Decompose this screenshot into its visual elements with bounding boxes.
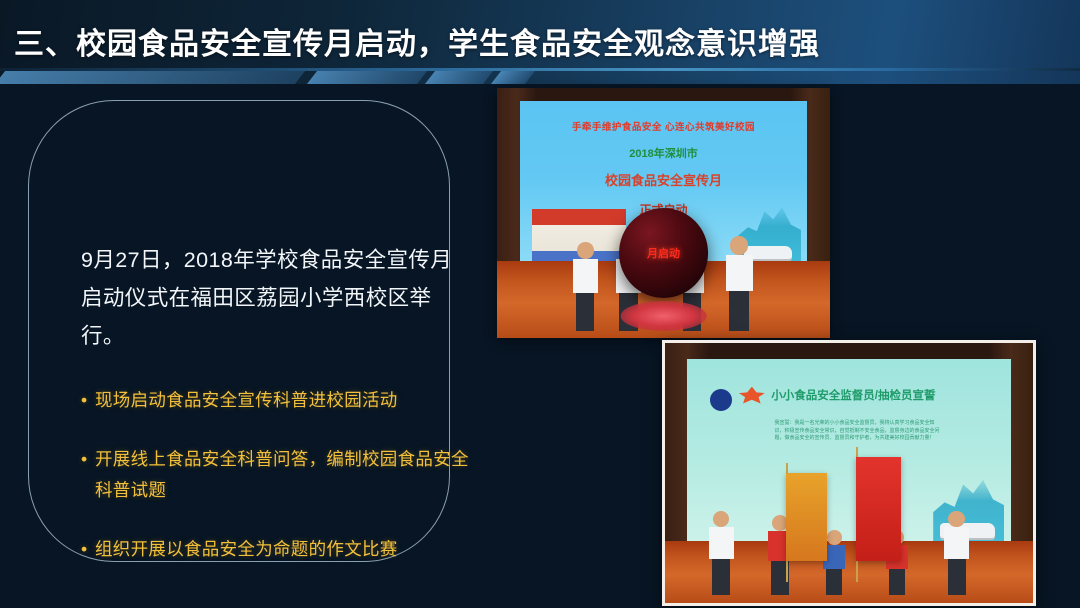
person-figure xyxy=(948,511,965,596)
launch-ceremony-photo: 手牵手维护食品安全 心连心共筑美好校园 2018年深圳市 校园食品安全宣传月 正… xyxy=(497,88,830,338)
bullet-list: • 现场启动食品安全宣传科普进校园活动 • 开展线上食品安全科普问答，编制校园食… xyxy=(81,385,463,565)
lead-paragraph: 9月27日，2018年学校食品安全宣传月启动仪式在福田区荔园小学西校区举行。 xyxy=(81,241,459,355)
person-figure xyxy=(713,511,730,596)
list-item: • 开展线上食品安全科普问答，编制校园食品安全科普试题 xyxy=(81,444,471,506)
bullet-marker-icon: • xyxy=(81,444,87,475)
flower-petals xyxy=(620,301,707,331)
slide-root: 三、校园食品安全宣传月启动，学生食品安全观念意识增强 9月27日，2018年学校… xyxy=(0,0,1080,608)
banner-slogan-line: 手牵手维护食品安全 心连心共筑美好校园 xyxy=(520,119,806,133)
list-item: • 组织开展以食品安全为命题的作文比赛 xyxy=(81,534,471,565)
list-item: • 现场启动食品安全宣传科普进校园活动 xyxy=(81,385,471,416)
list-item-label: 组织开展以食品安全为命题的作文比赛 xyxy=(95,539,398,559)
flag-presentation-photo: 小小食品安全监督员/抽检员宣誓 我宣誓：我是一名光荣的小小食品安全监督员，我将认… xyxy=(662,340,1036,606)
ceremony-launch-ball: 月启动 xyxy=(619,208,709,298)
ceremonial-flag xyxy=(856,457,900,561)
star-logo-icon xyxy=(739,387,765,404)
banner-title: 小小食品安全监督员/抽检员宣誓 xyxy=(771,387,935,403)
banner-theme-line: 校园食品安全宣传月 xyxy=(520,170,806,189)
list-item-label: 现场启动食品安全宣传科普进校园活动 xyxy=(95,390,398,410)
banner-body-text: 我宣誓：我是一名光荣的小小食品安全监督员，我将认真学习食品安全知识，积极宣传食品… xyxy=(775,420,943,443)
person-figure xyxy=(577,242,594,331)
person-figure xyxy=(827,530,842,595)
ceremonial-flag xyxy=(786,473,826,561)
content-panel: 9月27日，2018年学校食品安全宣传月启动仪式在福田区荔园小学西校区举行。 •… xyxy=(28,100,450,562)
list-item-label: 开展线上食品安全科普问答，编制校园食品安全科普试题 xyxy=(95,449,469,500)
banner-year-line: 2018年深圳市 xyxy=(520,145,806,161)
page-title: 三、校园食品安全宣传月启动，学生食品安全观念意识增强 xyxy=(14,19,820,63)
header-slash-decoration xyxy=(0,71,560,84)
bullet-marker-icon: • xyxy=(81,534,87,565)
person-figure xyxy=(730,236,748,330)
ball-led-text: 月启动 xyxy=(647,245,680,261)
emblem-icon xyxy=(710,389,733,412)
bullet-marker-icon: • xyxy=(81,385,87,416)
content-panel-inner: 9月27日，2018年学校食品安全宣传月启动仪式在福田区荔园小学西校区举行。 •… xyxy=(81,241,463,565)
